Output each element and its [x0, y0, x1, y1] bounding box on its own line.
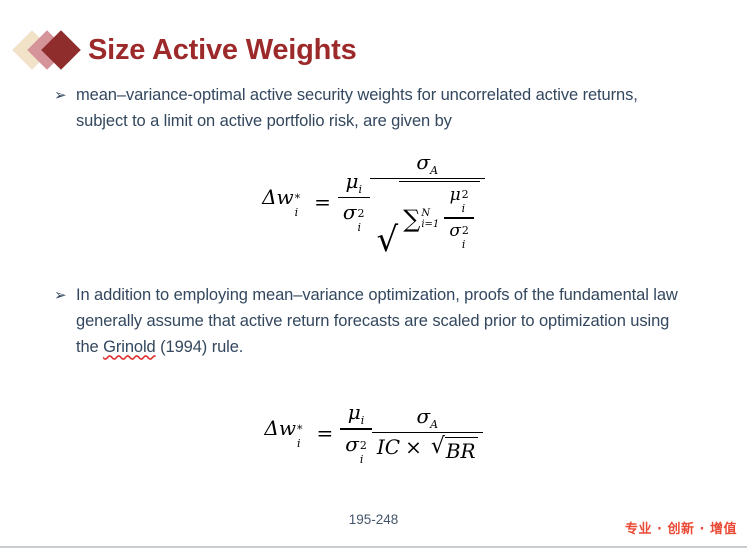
page-title: Size Active Weights — [88, 36, 357, 65]
slide-body: ➢ mean–variance-optimal active security … — [0, 82, 747, 467]
formula-1-equals: = — [314, 190, 331, 214]
formula-2: Δw * i = μi σ2i σA IC×√BR — [0, 400, 747, 466]
multiply-icon: × — [405, 435, 422, 459]
formula-2-fraction-b: σA IC×√BR — [372, 404, 483, 463]
misspelled-word[interactable]: Grinold — [103, 338, 156, 356]
sqrt-icon: √ — [377, 183, 400, 253]
formula-2-lhs-superscript: * — [297, 424, 303, 435]
formula-2-equals: = — [316, 421, 333, 445]
bullet-text-2: In addition to employing mean–variance o… — [76, 282, 689, 360]
formula-2-frac-a-denominator: σ2i — [340, 430, 372, 467]
formula-1-frac-b-numerator: σA — [411, 150, 443, 178]
formula-2-delta-w: Δw — [264, 416, 296, 440]
formula-1: Δw * i = μi σ2i σA — [0, 150, 747, 254]
bullet-item-2: ➢ In addition to employing mean–variance… — [0, 282, 747, 360]
footer-slogan: 专业 · 创新 · 增值 — [625, 518, 737, 537]
formula-1-lhs-subscript: i — [295, 207, 301, 218]
sqrt-icon: √ — [431, 436, 445, 462]
formula-1-sum-upper: N — [421, 208, 439, 219]
footer-divider — [0, 546, 747, 548]
formula-1-sum-term: μ2i σ2i — [444, 185, 474, 251]
formula-2-lhs-subscript: i — [297, 438, 303, 449]
formula-1-fraction-b: σA √ ∑ N i=1 — [370, 150, 485, 254]
formula-1-summation: ∑ N i=1 — [403, 207, 439, 231]
formula-1-delta-w: Δw — [262, 185, 294, 209]
formula-2-sqrt-br: √BR — [431, 437, 478, 463]
formula-1-lhs: Δw * i — [262, 185, 300, 220]
bullet-item-1: ➢ mean–variance-optimal active security … — [0, 82, 747, 134]
formula-2-frac-a-numerator: μi — [343, 400, 370, 428]
formula-1-frac-a-numerator: μi — [340, 169, 367, 197]
sigma-sum-icon: ∑ — [403, 207, 420, 231]
bullet-2-text-after: (1994) rule. — [156, 338, 244, 356]
formula-2-lhs: Δw * i — [264, 416, 302, 451]
formula-2-frac-b-numerator: σA — [411, 404, 443, 432]
bullet-text-1: mean–variance-optimal active security we… — [76, 82, 689, 134]
formula-1-radical: √ ∑ N i=1 μ2i — [375, 181, 480, 251]
slide-header: Size Active Weights — [0, 22, 747, 78]
formula-2-frac-b-denominator: IC×√BR — [372, 433, 483, 463]
formula-1-frac-a-denominator: σ2i — [338, 198, 370, 235]
formula-1-frac-b-denominator: √ ∑ N i=1 μ2i — [370, 179, 485, 254]
formula-2-radicand: BR — [445, 437, 478, 463]
arrow-bullet-icon: ➢ — [54, 82, 76, 108]
formula-1-sum-lower: i=1 — [421, 219, 439, 230]
arrow-bullet-icon: ➢ — [54, 282, 76, 308]
formula-1-lhs-superscript: * — [295, 193, 301, 204]
logo-diamonds-icon — [16, 26, 82, 74]
formula-2-fraction-a: μi σ2i — [340, 400, 372, 466]
formula-1-fraction-a: μi σ2i — [338, 169, 370, 235]
formula-2-ic: IC — [377, 435, 400, 459]
